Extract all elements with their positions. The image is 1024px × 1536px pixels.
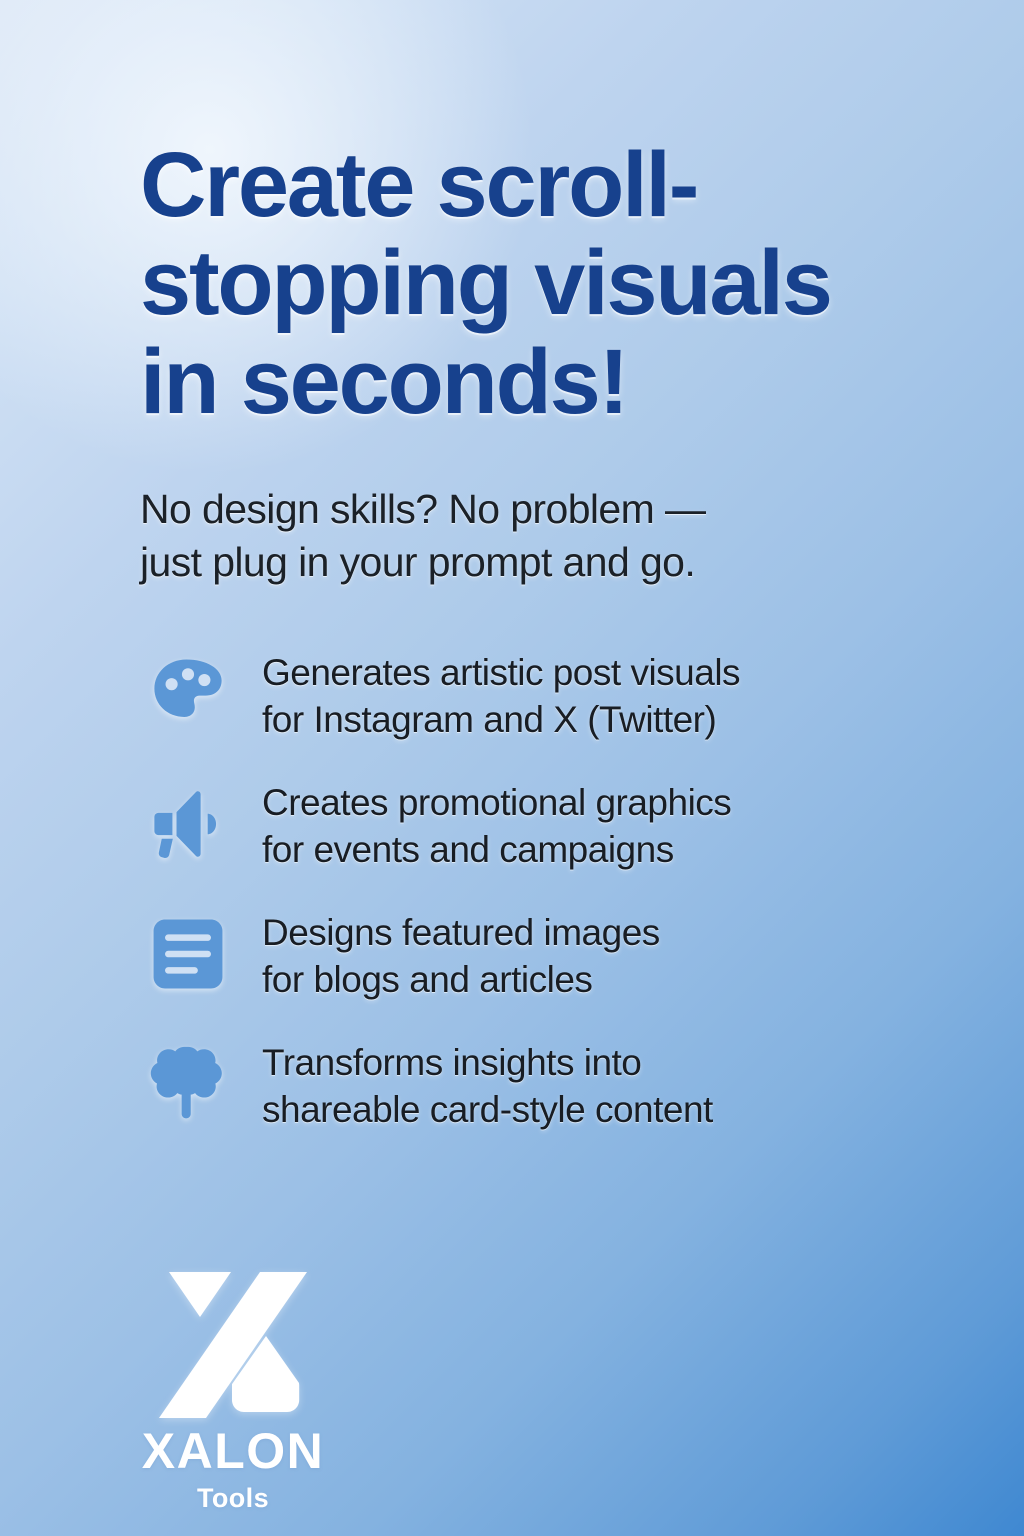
feature-list: Generates artistic post visuals for Inst…: [140, 588, 968, 1144]
feature-item-generates-visuals: Generates artistic post visuals for Inst…: [140, 644, 968, 754]
headline-line-2: stopping visuals: [140, 232, 831, 334]
feature-item-shareable-cards: Transforms insights into shareable card-…: [140, 1034, 968, 1144]
feature-text: Creates promotional graphics for events …: [262, 774, 731, 873]
feature-item-featured-images: Designs featured images for blogs and ar…: [140, 904, 968, 1014]
headline-line-1: Create scroll-: [140, 134, 697, 236]
feature-line-1: Creates promotional graphics: [262, 782, 731, 823]
feature-text: Transforms insights into shareable card-…: [262, 1034, 713, 1133]
brand-logo: XALON Tools: [118, 1272, 348, 1512]
subtitle-line-1: No design skills? No problem —: [140, 486, 705, 532]
palette-icon: [140, 646, 236, 742]
logo-tagline: Tools: [118, 1476, 348, 1512]
subtitle: No design skills? No problem — just plug…: [140, 431, 840, 588]
promotional-poster: Create scroll- stopping visuals in secon…: [0, 0, 1024, 1536]
feature-line-2: for events and campaigns: [262, 827, 731, 874]
feature-line-1: Designs featured images: [262, 912, 660, 953]
feature-line-1: Transforms insights into: [262, 1042, 641, 1083]
page-title: Create scroll- stopping visuals in secon…: [140, 0, 900, 431]
feature-line-1: Generates artistic post visuals: [262, 652, 740, 693]
x-monogram-icon: [159, 1272, 307, 1418]
headline-line-3: in seconds!: [140, 331, 627, 433]
poster-content: Create scroll- stopping visuals in secon…: [0, 0, 1024, 1144]
logo-wordmark: XALON: [118, 1426, 348, 1476]
brain-icon: [140, 1036, 236, 1132]
feature-text: Generates artistic post visuals for Inst…: [262, 644, 740, 743]
feature-line-2: shareable card-style content: [262, 1087, 713, 1134]
feature-item-promotional-graphics: Creates promotional graphics for events …: [140, 774, 968, 884]
feature-line-2: for Instagram and X (Twitter): [262, 697, 740, 744]
subtitle-line-2: just plug in your prompt and go.: [140, 539, 695, 585]
feature-text: Designs featured images for blogs and ar…: [262, 904, 660, 1003]
megaphone-icon: [140, 776, 236, 872]
feature-line-2: for blogs and articles: [262, 957, 660, 1004]
document-icon: [140, 906, 236, 1002]
